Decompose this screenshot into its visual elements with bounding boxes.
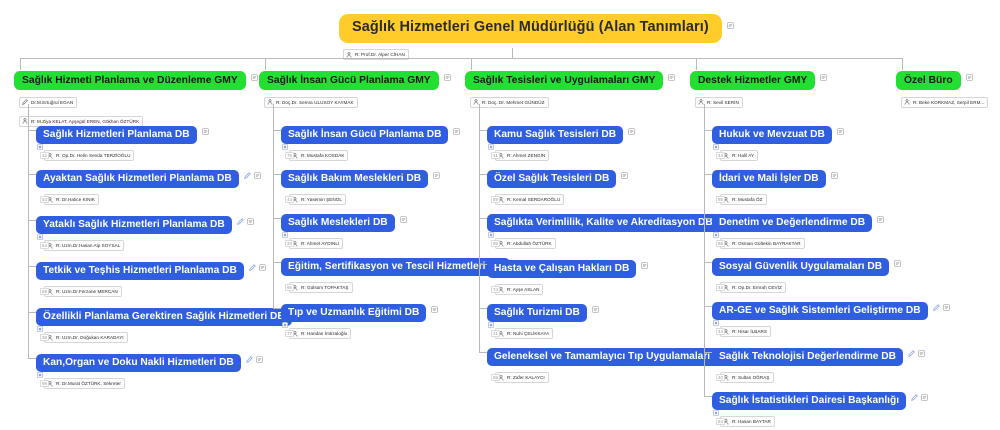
connector-line [273, 174, 281, 175]
child-group: AR-GE ve Sağlık Sistemleri Geliştirme DB… [712, 300, 950, 340]
child-group: Sağlık İstatistikleri Dairesi Başkanlığı… [712, 390, 928, 430]
node-stub[interactable]: 86 [285, 284, 294, 291]
child-node[interactable]: Özel Sağlık Tesisleri DB [487, 170, 616, 188]
branch-group-2: Sağlık İnsan Gücü Planlama GMYR: Doç.Dr.… [259, 70, 451, 110]
chip-label: R: Yasemin ŞENOL [301, 197, 342, 202]
node-stub[interactable]: 64 [716, 418, 725, 425]
note-icon[interactable] [820, 74, 827, 81]
note-icon[interactable] [433, 172, 440, 179]
child-node[interactable]: Sağlıkta Verimlilik, Kalite ve Akreditas… [487, 214, 720, 232]
branch-note-row: R: Doç. Dr. Mehmet GÜNDÜZ [470, 92, 675, 110]
child-group: Sağlık İnsan Gücü Planlama DBR: Mustafa … [281, 124, 460, 164]
connector-line [28, 266, 36, 267]
chip-label: R: Doç.Dr. Semra ULUSOY KAYMAK [276, 100, 354, 105]
child-node[interactable]: Denetim ve Değerlendirme DB [712, 214, 872, 232]
pencil-icon[interactable] [249, 264, 256, 271]
child-person-row: R: Sultan OĞRAŞ [720, 368, 925, 386]
chip-label: R: Doç. Dr. Mehmet GÜNDÜZ [482, 100, 545, 105]
child-node[interactable]: Sağlık İnsan Gücü Planlama DB [281, 126, 448, 144]
note-icon[interactable] [251, 74, 258, 81]
node-stub[interactable]: 42 [40, 152, 49, 159]
child-node[interactable]: Kan,Organ ve Doku Nakli Hizmetleri DB [36, 354, 241, 372]
root-node[interactable]: Sağlık Hizmetleri Genel Müdürlüğü (Alan … [339, 14, 722, 43]
child-person-chip: R: Hisar İLBARS [720, 326, 771, 337]
child-node[interactable]: Sağlık Bakım Meslekleri DB [281, 170, 428, 188]
connector-line [479, 174, 487, 175]
child-node-icons[interactable] [400, 216, 407, 223]
child-person-row: R: Halil AY [720, 146, 844, 164]
node-stub[interactable]: 54 [40, 196, 49, 203]
chip-label: R: Abdullah ÖZTÜRK [507, 241, 552, 246]
note-icon[interactable] [668, 74, 675, 81]
child-node[interactable]: Özellikli Planlama Gerektiren Sağlık Hiz… [36, 308, 292, 326]
note-icon[interactable] [247, 218, 254, 225]
chip-label: R: Ahmet AYDINLI [301, 241, 339, 246]
pencil-icon[interactable] [911, 394, 918, 401]
branch-node-icons[interactable] [820, 74, 827, 81]
note-icon[interactable] [918, 350, 925, 357]
child-node-icons[interactable] [911, 394, 928, 401]
node-stub[interactable]: 44 [716, 328, 725, 335]
node-stub[interactable]: 88 [40, 288, 49, 295]
connector-line [28, 174, 36, 175]
connector-line [471, 58, 472, 70]
branch-node[interactable]: Sağlık İnsan Gücü Planlama GMY [259, 71, 439, 90]
connector-line [479, 352, 487, 353]
connector-line [696, 58, 697, 70]
node-stub[interactable]: 86 [491, 240, 500, 247]
child-node-icons[interactable] [908, 350, 925, 357]
child-group: Denetim ve Değerlendirme DBR: Osman Gült… [712, 212, 884, 252]
chip-label: Dr.M.Ertuğrul EGAN [31, 100, 73, 105]
note-icon[interactable] [259, 264, 266, 271]
node-stub[interactable]: 89 [491, 196, 500, 203]
node-stub[interactable]: 99 [40, 380, 49, 387]
child-group: Hukuk ve Mevzuat DBR: Halil AY [712, 124, 844, 164]
node-stub[interactable]: 44 [716, 284, 725, 291]
note-icon[interactable] [641, 262, 648, 269]
child-node[interactable]: Yataklı Sağlık Hizmetleri Planlama DB [36, 216, 232, 234]
branch-note-chip: R: Doç. Dr. Mehmet GÜNDÜZ [470, 97, 549, 108]
note-icon[interactable] [444, 74, 451, 81]
note-icon[interactable] [727, 22, 734, 29]
child-node-icons[interactable] [837, 128, 844, 135]
chip-label: R: Halil AY [732, 153, 754, 158]
node-stub[interactable]: 38 [40, 334, 49, 341]
child-person-chip: R: Mustafa KOSDAK [289, 150, 348, 161]
branch-group-4: Destek Hizmetler GMYR: Sevil SERİN [690, 70, 827, 110]
note-icon[interactable] [256, 356, 263, 363]
chip-label: R: Gülsüm TOPAKTAŞ [301, 285, 349, 290]
connector-line [273, 308, 281, 309]
child-group: Sağlık Turizmi DBR: Nuhi ÇELİKKAYA [487, 302, 599, 342]
root-person-row: R: Prof.Dr. Alper CİHAN [343, 45, 734, 63]
child-node-icons[interactable] [202, 128, 209, 135]
note-icon[interactable] [254, 172, 261, 179]
child-node[interactable]: Eğitim, Sertifikasyon ve Tescil Hizmetle… [281, 258, 510, 276]
child-node[interactable]: İdari ve Mali İşler DB [712, 170, 826, 188]
child-person-chip: R: Handan İmtizaloğlu [289, 328, 351, 339]
note-icon[interactable] [837, 128, 844, 135]
note-icon[interactable] [966, 74, 973, 81]
connector-line [704, 174, 712, 175]
child-person-row: R: Yasemin ŞENOL [289, 190, 440, 208]
child-node[interactable]: Hasta ve Çalışan Hakları DB [487, 260, 636, 278]
child-group: Hasta ve Çalışan Hakları DBR: Ayşe ASLAN [487, 258, 648, 298]
note-icon[interactable] [831, 172, 838, 179]
branch-group-3: Sağlık Tesisleri ve Uygulamaları GMYR: D… [465, 70, 675, 110]
chip-label: R: Uzm.Dr.Hasan Alp SOYSAL [56, 243, 120, 248]
branch-note-chip: R: Doç.Dr. Semra ULUSOY KAYMAK [264, 97, 358, 108]
child-group: Sağlık Hizmetleri Planlama DBR: Op.Dr. H… [36, 124, 209, 164]
chip-label: R: Mustafa ÖZ [732, 197, 763, 202]
child-node[interactable]: Sağlık Teknolojisi Değerlendirme DB [712, 348, 903, 366]
chip-label: R: Kemal SERDAROĞLU [507, 197, 560, 202]
chip-label: R: Prof.Dr. Alper CİHAN [355, 52, 405, 57]
branch-node-icons[interactable] [444, 74, 451, 81]
connector-line [512, 48, 513, 58]
chip-label: R: Op.Dr. Helin Senda TERZİOĞLU [56, 153, 130, 158]
child-group: Kamu Sağlık Tesisleri DBR: Ahmet ZENGİN [487, 124, 635, 164]
child-group: Tıp ve Uzmanlık Eğitimi DBR: Handan İmti… [281, 302, 438, 342]
chip-label: R: Handan İmtizaloğlu [301, 331, 347, 336]
connector-line [704, 396, 712, 397]
child-node-icons[interactable] [894, 260, 901, 267]
connector-line [479, 130, 487, 131]
child-person-row: R: Mustafa KOSDAK [289, 146, 460, 164]
child-node[interactable]: Ayaktan Sağlık Hizmetleri Planlama DB [36, 170, 239, 188]
branch-node[interactable]: Sağlık Tesisleri ve Uygulamaları GMY [465, 71, 663, 90]
connector-line [479, 104, 480, 352]
chip-label: R: Zafer KALAYCI [507, 375, 545, 380]
connector-line [704, 262, 712, 263]
child-person-chip: R: Dr.Murat ÖZTÜRK, Sekreter [44, 378, 125, 389]
node-stub[interactable]: 44 [716, 152, 725, 159]
child-person-chip: R: Zafer KALAYCI [495, 372, 549, 383]
child-group: Sağlık Teknolojisi Değerlendirme DBR: Su… [712, 346, 925, 386]
child-group: Sosyal Güvenlik Uygulamaları DBR: Op.Dr.… [712, 256, 901, 296]
chip-label: R: Nuhi ÇELİKKAYA [507, 331, 549, 336]
child-person-row: R: Dr.Hatice KINIK [44, 190, 261, 208]
pencil-icon[interactable] [237, 218, 244, 225]
pencil-icon[interactable] [246, 356, 253, 363]
node-stub[interactable]: 54 [40, 242, 49, 249]
note-icon[interactable] [628, 128, 635, 135]
child-group: Sağlık Bakım Meslekleri DBR: Yasemin ŞEN… [281, 168, 440, 208]
chip-label: R: Dr.Hatice KINIK [56, 197, 95, 202]
node-stub[interactable]: 41 [491, 152, 500, 159]
node-stub[interactable]: 88 [491, 374, 500, 381]
connector-line [479, 264, 487, 265]
note-icon[interactable] [877, 216, 884, 223]
note-icon[interactable] [453, 128, 460, 135]
child-node[interactable]: Tıp ve Uzmanlık Eğitimi DB [281, 304, 426, 322]
connector-line [704, 130, 712, 131]
mindmap-canvas: Sağlık Hizmetleri Genel Müdürlüğü (Alan … [0, 0, 1000, 430]
chip-label: R: Osman Gültekin BAYRAKTAR [732, 241, 801, 246]
child-person-row: R: Osman Gültekin BAYRAKTAR [720, 234, 884, 252]
child-person-chip: R: Abdullah ÖZTÜRK [495, 238, 556, 249]
connector-line [704, 352, 712, 353]
child-person-row: R: Ayşe ASLAN [495, 280, 648, 298]
child-person-chip: R: Ayşe ASLAN [495, 284, 543, 295]
connector-line [28, 312, 36, 313]
child-person-chip: R: Ahmet AYDINLI [289, 238, 343, 249]
chip-label: R: Uzm.Dr.Ferzane MERCAN [56, 289, 118, 294]
node-stub[interactable]: 40 [716, 374, 725, 381]
child-group: Yataklı Sağlık Hizmetleri Planlama DBR: … [36, 214, 254, 254]
connector-line [20, 58, 902, 59]
pencil-icon[interactable] [908, 350, 915, 357]
node-stub[interactable]: 33 [285, 240, 294, 247]
chip-label: R: Ayşe ASLAN [507, 287, 539, 292]
connector-line [28, 220, 36, 221]
child-node-icons[interactable] [628, 128, 635, 135]
child-person-chip: R: Op.Dr. Helin Senda TERZİOĞLU [44, 150, 134, 161]
connector-line [704, 218, 712, 219]
child-group: Kan,Organ ve Doku Nakli Hizmetleri DBR: … [36, 352, 263, 392]
branch-note-chip: R: Beke KORKMAZ, Serpil ERM... [901, 97, 988, 108]
child-person-row: R: Uzm.Dr.Ferzane MERCAN [44, 282, 266, 300]
note-icon[interactable] [202, 128, 209, 135]
child-person-chip: R: Sultan OĞRAŞ [720, 372, 774, 383]
chip-label: R: Hasan BAYTAR [732, 419, 771, 424]
child-node-icons[interactable] [592, 306, 599, 313]
branch-group-1: Sağlık Hizmeti Planlama ve Düzenleme GMY… [14, 70, 258, 129]
child-person-chip: R: Uzm.Dr.Ferzane MERCAN [44, 286, 122, 297]
child-node-icons[interactable] [933, 304, 950, 311]
connector-line [273, 218, 281, 219]
child-person-row: R: Op.Dr. Helin Senda TERZİOĞLU [44, 146, 209, 164]
child-person-row: R: Ahmet ZENGİN [495, 146, 635, 164]
branch-node-icons[interactable] [251, 74, 258, 81]
node-stub[interactable]: 95 [716, 196, 725, 203]
child-person-chip: R: Uzm.Dr. Doğukan KARADAYI [44, 332, 128, 343]
child-node-icons[interactable] [641, 262, 648, 269]
connector-line [273, 130, 281, 131]
child-person-chip: R: Kemal SERDAROĞLU [495, 194, 564, 205]
child-person-row: R: Hisar İLBARS [720, 322, 950, 340]
root-node-icons[interactable] [727, 22, 734, 29]
child-node[interactable]: Hukuk ve Mevzuat DB [712, 126, 832, 144]
connector-line [273, 104, 274, 308]
child-person-chip: R: Ahmet ZENGİN [495, 150, 549, 161]
child-person-row: R: Uzm.Dr.Hasan Alp SOYSAL [44, 236, 254, 254]
chip-label: R: Mustafa KOSDAK [301, 153, 344, 158]
branch-note-row: R: Sevil SERİN [695, 92, 827, 110]
branch-node[interactable]: Özel Büro [896, 71, 961, 90]
child-person-row: R: Mustafa ÖZ [720, 190, 838, 208]
note-icon[interactable] [943, 304, 950, 311]
child-node-icons[interactable] [244, 172, 261, 179]
connector-line [479, 218, 487, 219]
chip-label: R: Sultan OĞRAŞ [732, 375, 770, 380]
chip-label: R: Ahmet ZENGİN [507, 153, 545, 158]
child-person-chip: R: Nuhi ÇELİKKAYA [495, 328, 553, 339]
child-person-chip: R: Hasan BAYTAR [720, 416, 775, 427]
connector-line [704, 306, 712, 307]
child-person-row: R: Ahmet AYDINLI [289, 234, 407, 252]
child-group: Ayaktan Sağlık Hizmetleri Planlama DBR: … [36, 168, 261, 208]
child-node-icons[interactable] [249, 264, 266, 271]
child-node-icons[interactable] [621, 172, 628, 179]
root-node-group: Sağlık Hizmetleri Genel Müdürlüğü (Alan … [339, 14, 734, 63]
child-node-icons[interactable] [877, 216, 884, 223]
connector-line [20, 58, 21, 70]
child-person-row: R: Kemal SERDAROĞLU [495, 190, 628, 208]
child-person-chip: R: Mustafa ÖZ [720, 194, 767, 205]
child-node[interactable]: Sağlık Meslekleri DB [281, 214, 395, 232]
connector-line [28, 358, 36, 359]
note-icon[interactable] [592, 306, 599, 313]
child-person-chip: R: Uzm.Dr.Hasan Alp SOYSAL [44, 240, 124, 251]
child-group: İdari ve Mali İşler DBR: Mustafa ÖZ [712, 168, 838, 208]
node-stub[interactable]: 77 [285, 330, 294, 337]
branch-node[interactable]: Destek Hizmetler GMY [690, 71, 815, 90]
branch-node-icons[interactable] [668, 74, 675, 81]
child-person-chip: R: Gülsüm TOPAKTAŞ [289, 282, 353, 293]
child-node-icons[interactable] [237, 218, 254, 225]
chip-label: R: Op.Dr. Emrah CEVİZ [732, 285, 782, 290]
child-person-row: R: Handan İmtizaloğlu [289, 324, 438, 342]
child-group: Sağlık Meslekleri DBR: Ahmet AYDINLI [281, 212, 407, 252]
child-group: Özel Sağlık Tesisleri DBR: Kemal SERDARO… [487, 168, 628, 208]
child-group: Özellikli Planlama Gerektiren Sağlık Hiz… [36, 306, 314, 346]
chip-label: R: Dr.Murat ÖZTÜRK, Sekreter [56, 381, 121, 386]
connector-line [265, 58, 266, 70]
child-person-chip: R: Op.Dr. Emrah CEVİZ [720, 282, 786, 293]
connector-line [902, 58, 903, 70]
branch-group-5: Özel BüroR: Beke KORKMAZ, Serpil ERM... [896, 70, 988, 110]
child-node-icons[interactable] [431, 306, 438, 313]
child-person-row: R: Dr.Murat ÖZTÜRK, Sekreter [44, 374, 263, 392]
child-person-chip: R: Dr.Hatice KINIK [44, 194, 99, 205]
branch-node-icons[interactable] [966, 74, 973, 81]
child-person-row: R: Nuhi ÇELİKKAYA [495, 324, 599, 342]
branch-note-row: Dr.M.Ertuğrul EGAN [19, 92, 258, 110]
child-group: Tetkik ve Teşhis Hizmetleri Planlama DBR… [36, 260, 266, 300]
pencil-icon[interactable] [933, 304, 940, 311]
connector-line [479, 308, 487, 309]
branch-note-row: R: Doç.Dr. Semra ULUSOY KAYMAK [264, 92, 451, 110]
child-person-row: R: Uzm.Dr. Doğukan KARADAYI [44, 328, 314, 346]
child-node[interactable]: Tetkik ve Teşhis Hizmetleri Planlama DB [36, 262, 244, 280]
chip-label: R: Sevil SERİN [707, 100, 739, 105]
child-person-row: R: Hasan BAYTAR [720, 412, 928, 430]
node-stub[interactable]: 74 [491, 286, 500, 293]
chip-label: R: Hisar İLBARS [732, 329, 767, 334]
note-icon[interactable] [894, 260, 901, 267]
child-node-icons[interactable] [453, 128, 460, 135]
node-stub[interactable]: 86 [716, 240, 725, 247]
child-person-chip: R: Halil AY [720, 150, 758, 161]
node-stub[interactable]: 75 [285, 152, 294, 159]
child-person-row: R: Op.Dr. Emrah CEVİZ [720, 278, 901, 296]
child-node[interactable]: Sağlık Turizmi DB [487, 304, 587, 322]
child-node-icons[interactable] [831, 172, 838, 179]
pencil-icon[interactable] [244, 172, 251, 179]
connector-line [28, 130, 36, 131]
child-node[interactable]: Sosyal Güvenlik Uygulamaları DB [712, 258, 889, 276]
connector-line [28, 104, 29, 358]
note-icon[interactable] [621, 172, 628, 179]
child-person-chip: R: Yasemin ŞENOL [289, 194, 346, 205]
child-node[interactable]: Geleneksel ve Tamamlayıcı Tıp Uygulamala… [487, 348, 735, 366]
note-icon[interactable] [431, 306, 438, 313]
child-node-icons[interactable] [246, 356, 263, 363]
node-stub[interactable]: 41 [491, 330, 500, 337]
child-node-icons[interactable] [433, 172, 440, 179]
branch-note-chip: R: Sevil SERİN [695, 97, 743, 108]
child-node[interactable]: Sağlık İstatistikleri Dairesi Başkanlığı [712, 392, 906, 410]
note-icon[interactable] [400, 216, 407, 223]
chip-label: R: Uzm.Dr. Doğukan KARADAYI [56, 335, 124, 340]
branch-note-row: R: Beke KORKMAZ, Serpil ERM... [901, 92, 988, 110]
child-person-chip: R: Osman Gültekin BAYRAKTAR [720, 238, 805, 249]
note-icon[interactable] [921, 394, 928, 401]
branch-node[interactable]: Sağlık Hizmeti Planlama ve Düzenleme GMY [14, 71, 246, 90]
connector-line [273, 262, 281, 263]
chip-label: R: Beke KORKMAZ, Serpil ERM... [913, 100, 984, 105]
child-node[interactable]: AR-GE ve Sağlık Sistemleri Geliştirme DB [712, 302, 928, 320]
child-node[interactable]: Kamu Sağlık Tesisleri DB [487, 126, 623, 144]
child-node[interactable]: Sağlık Hizmetleri Planlama DB [36, 126, 197, 144]
node-stub[interactable]: 44 [285, 196, 294, 203]
